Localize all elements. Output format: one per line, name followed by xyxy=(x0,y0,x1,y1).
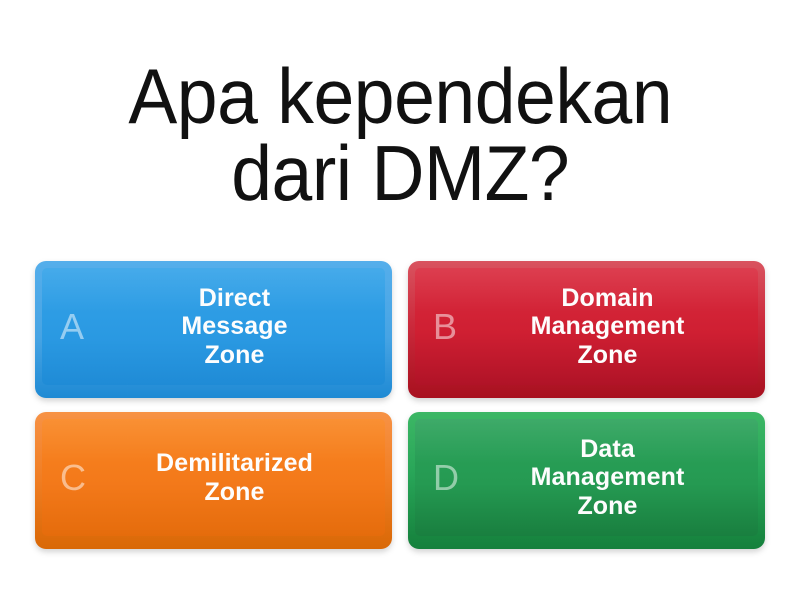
question-area: Apa kependekan dari DMZ? xyxy=(0,32,800,237)
answer-option-d[interactable]: D Data Management Zone xyxy=(408,412,765,549)
answer-option-a-face: A Direct Message Zone xyxy=(42,268,385,385)
answer-option-c-face: C Demilitarized Zone xyxy=(42,419,385,536)
answer-text-c: Demilitarized Zone xyxy=(42,449,385,506)
answer-options-grid: A Direct Message Zone B Domain Managemen… xyxy=(35,261,765,549)
answer-option-b[interactable]: B Domain Management Zone xyxy=(408,261,765,398)
answer-option-b-face: B Domain Management Zone xyxy=(415,268,758,385)
answer-option-a[interactable]: A Direct Message Zone xyxy=(35,261,392,398)
answer-option-c[interactable]: C Demilitarized Zone xyxy=(35,412,392,549)
answer-option-d-face: D Data Management Zone xyxy=(415,419,758,536)
answer-text-d: Data Management Zone xyxy=(415,435,758,521)
answer-text-a: Direct Message Zone xyxy=(42,284,385,370)
quiz-slide: Apa kependekan dari DMZ? A Direct Messag… xyxy=(0,0,800,600)
question-text: Apa kependekan dari DMZ? xyxy=(128,58,672,211)
answer-text-b: Domain Management Zone xyxy=(415,284,758,370)
